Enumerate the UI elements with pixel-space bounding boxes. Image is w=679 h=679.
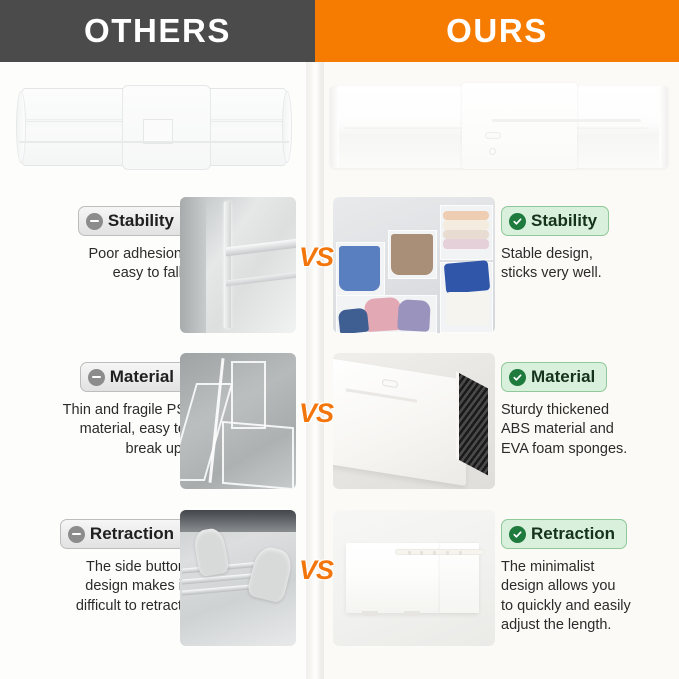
clear-divider-button [143, 119, 173, 143]
header-others-label: OTHERS [84, 12, 231, 50]
others-badge-stability: Stability [78, 206, 186, 236]
ours-badge-retraction: Retraction [501, 519, 627, 549]
photo-folded-blue-shirt [339, 246, 380, 291]
white-divider-right-end [659, 86, 668, 168]
vs-badge-row-2: VS [299, 398, 333, 429]
comparison-infographic: OTHERS OURS Stabili [0, 0, 679, 679]
check-circle-icon [509, 526, 526, 543]
photo-panel-foot [362, 611, 378, 616]
ours-badge-material: Material [501, 362, 607, 392]
header-ours-cell: OURS [315, 0, 679, 62]
hero-image-ours [330, 86, 668, 168]
header-others-cell: OTHERS [0, 0, 315, 62]
others-badge-retraction: Retraction [60, 519, 186, 549]
ours-badge-stability: Stability [501, 206, 609, 236]
photo-track-notch [408, 551, 411, 555]
others-photo-retraction [180, 510, 296, 646]
photo-blue-folded-item [444, 260, 490, 294]
ours-badge-label: Material [531, 367, 595, 387]
photo-white-folded-item [446, 292, 488, 325]
check-circle-icon [509, 213, 526, 230]
others-description: The side button design makes it difficul… [8, 558, 186, 616]
photo-drawer-shadow [180, 510, 296, 532]
ours-description: The minimalist design allows you to quic… [501, 558, 679, 636]
photo-folded-tan-shirt [391, 234, 433, 275]
ours-description: Stable design, sticks very well. [501, 245, 679, 284]
white-divider-knob [485, 132, 501, 139]
photo-track-notch [459, 551, 462, 555]
others-text-stability: Stability Poor adhesion, easy to fall. [8, 206, 186, 284]
photo-drawer-edge [180, 197, 206, 333]
others-description: Thin and fragile PS material, easy to br… [8, 401, 186, 459]
white-divider-track [492, 119, 641, 122]
photo-plastic-shard [222, 421, 294, 489]
ours-badge-label: Stability [531, 211, 597, 231]
photo-panel-foot [404, 611, 420, 616]
photo-hand [246, 544, 295, 603]
photo-shelf-bottom [226, 271, 296, 286]
photo-plastic-shard [231, 361, 266, 429]
clear-divider-left-cap [16, 91, 26, 164]
others-badge-label: Material [110, 367, 174, 387]
photo-shelf-top [226, 239, 296, 257]
ours-photo-stability [333, 197, 495, 333]
minus-circle-icon [68, 526, 85, 543]
vs-badge-row-1: VS [299, 242, 333, 273]
vs-badge-row-3: VS [299, 555, 333, 586]
ours-badge-label: Retraction [531, 524, 615, 544]
photo-stacked-garment [443, 211, 488, 221]
comparison-row-retraction: Retraction The side button design makes … [0, 505, 679, 650]
clear-divider-illustration [18, 88, 290, 166]
minus-circle-icon [88, 369, 105, 386]
photo-purple-sock [397, 300, 431, 333]
others-badge-material: Material [80, 362, 186, 392]
white-divider-illustration [330, 86, 668, 168]
comparison-row-material: Material Thin and fragile PS material, e… [0, 348, 679, 493]
others-photo-stability [180, 197, 296, 333]
ours-text-material: Material Sturdy thickened ABS material a… [501, 362, 679, 459]
ours-photo-material [333, 353, 495, 489]
header-bar: OTHERS OURS [0, 0, 679, 62]
others-badge-label: Stability [108, 211, 174, 231]
clear-divider-right-cap [282, 91, 292, 164]
white-divider-left-end [330, 86, 339, 168]
photo-eva-foam-strip [456, 372, 488, 476]
ours-text-retraction: Retraction The minimalist design allows … [501, 519, 679, 636]
photo-stacked-garment [443, 220, 488, 230]
ours-description: Sturdy thickened ABS material and EVA fo… [501, 401, 679, 459]
others-photo-material [180, 353, 296, 489]
header-ours-label: OURS [446, 12, 548, 50]
white-divider-slider [462, 83, 577, 169]
comparison-row-stability: Stability Poor adhesion, easy to fall. V… [0, 192, 679, 337]
others-description: Poor adhesion, easy to fall. [8, 245, 186, 284]
photo-track-notch [446, 551, 449, 555]
photo-navy-sock [338, 307, 370, 333]
photo-stacked-garment [443, 230, 488, 240]
others-badge-label: Retraction [90, 524, 174, 544]
ours-photo-retraction [333, 510, 495, 646]
hero-image-others [18, 88, 290, 166]
check-circle-icon [509, 369, 526, 386]
photo-abs-body [333, 358, 466, 486]
minus-circle-icon [86, 213, 103, 230]
others-text-material: Material Thin and fragile PS material, e… [8, 362, 186, 459]
ours-text-stability: Stability Stable design, sticks very wel… [501, 206, 679, 284]
photo-stacked-garment [443, 239, 488, 249]
photo-vertical-divider [224, 202, 231, 327]
others-text-retraction: Retraction The side button design makes … [8, 519, 186, 616]
